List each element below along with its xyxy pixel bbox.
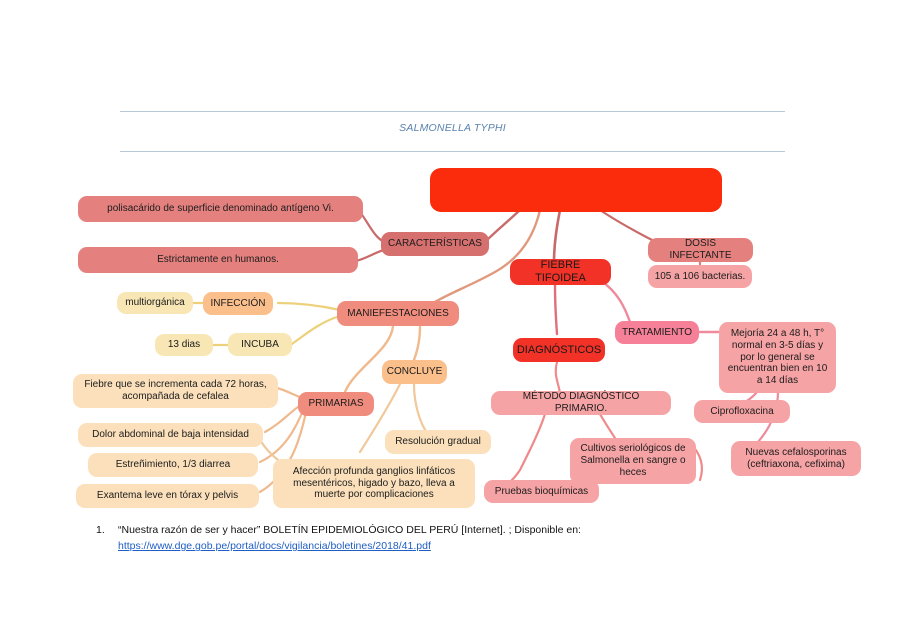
node-dosis-infectante[interactable]: DOSIS INFECTANTE — [648, 238, 753, 262]
node-dosis-valor[interactable]: 105 a 106 bacterias. — [648, 265, 752, 288]
node-fiebre-tifoidea[interactable]: FIEBRE TIFOIDEA — [510, 259, 611, 285]
node-fiebre-72-horas[interactable]: Fiebre que se incrementa cada 72 horas, … — [73, 374, 278, 408]
footnote-link[interactable]: https://www.dge.gob.pe/portal/docs/vigil… — [118, 540, 431, 552]
node-infeccion[interactable]: INFECCIÓN — [203, 292, 273, 315]
header-rule-bottom — [120, 151, 785, 152]
node-concluye[interactable]: CONCLUYE — [382, 360, 447, 384]
header-rule-top — [120, 111, 785, 112]
node-mejoria[interactable]: Mejoría 24 a 48 h, T° normal en 3-5 días… — [719, 322, 836, 393]
node-pruebas-bioquimicas[interactable]: Pruebas bioquímicas — [484, 480, 599, 503]
node-metodo-diagnostico-primario[interactable]: MÉTODO DIAGNÓSTICO PRIMARIO. — [491, 391, 671, 415]
node-maniefestaciones[interactable]: MANIEFESTACIONES — [337, 301, 459, 326]
node-diagnosticos[interactable]: DIAGNÓSTICOS — [513, 338, 605, 362]
node-exantema[interactable]: Exantema leve en tórax y pelvis — [76, 484, 259, 508]
node-dolor-abdominal[interactable]: Dolor abdominal de baja intensidad — [78, 423, 263, 447]
node-resolucion-gradual[interactable]: Resolución gradual — [385, 430, 491, 454]
node-primarias[interactable]: PRIMARIAS — [298, 392, 374, 416]
node-afeccion-profunda[interactable]: Afección profunda ganglios linfáticos me… — [273, 459, 475, 508]
node-estrenimiento[interactable]: Estreñimiento, 1/3 diarrea — [88, 453, 258, 477]
node-root-salmonell-typhi[interactable] — [430, 168, 722, 212]
node-multiorganica[interactable]: multiorgánica — [117, 292, 193, 314]
document-page: SALMONELLA TYPHI — [0, 0, 905, 640]
footnote-body: “Nuestra razón de ser y hacer” BOLETÍN E… — [118, 522, 796, 555]
node-nuevas-cefalosporinas[interactable]: Nuevas cefalosporinas (ceftriaxona, cefi… — [731, 441, 861, 476]
node-incuba[interactable]: INCUBA — [228, 333, 292, 356]
node-polisacarido[interactable]: polisacárido de superficie denominado an… — [78, 196, 363, 222]
node-ciprofloxacina[interactable]: Ciprofloxacina — [694, 400, 790, 423]
node-13-dias[interactable]: 13 dias — [155, 334, 213, 356]
node-caracteristicas[interactable]: CARACTERÍSTICAS — [381, 232, 489, 256]
footnote: 1. “Nuestra razón de ser y hacer” BOLETÍ… — [96, 522, 796, 555]
footnote-text: “Nuestra razón de ser y hacer” BOLETÍN E… — [118, 524, 581, 536]
page-header-title: SALMONELLA TYPHI — [120, 122, 785, 134]
node-cultivos-seriologicos[interactable]: Cultivos seriológicos de Salmonella en s… — [570, 438, 696, 484]
node-estrictamente-humanos[interactable]: Estrictamente en humanos. — [78, 247, 358, 273]
node-tratamiento[interactable]: TRATAMIENTO — [615, 321, 699, 344]
footnote-number: 1. — [96, 522, 118, 538]
